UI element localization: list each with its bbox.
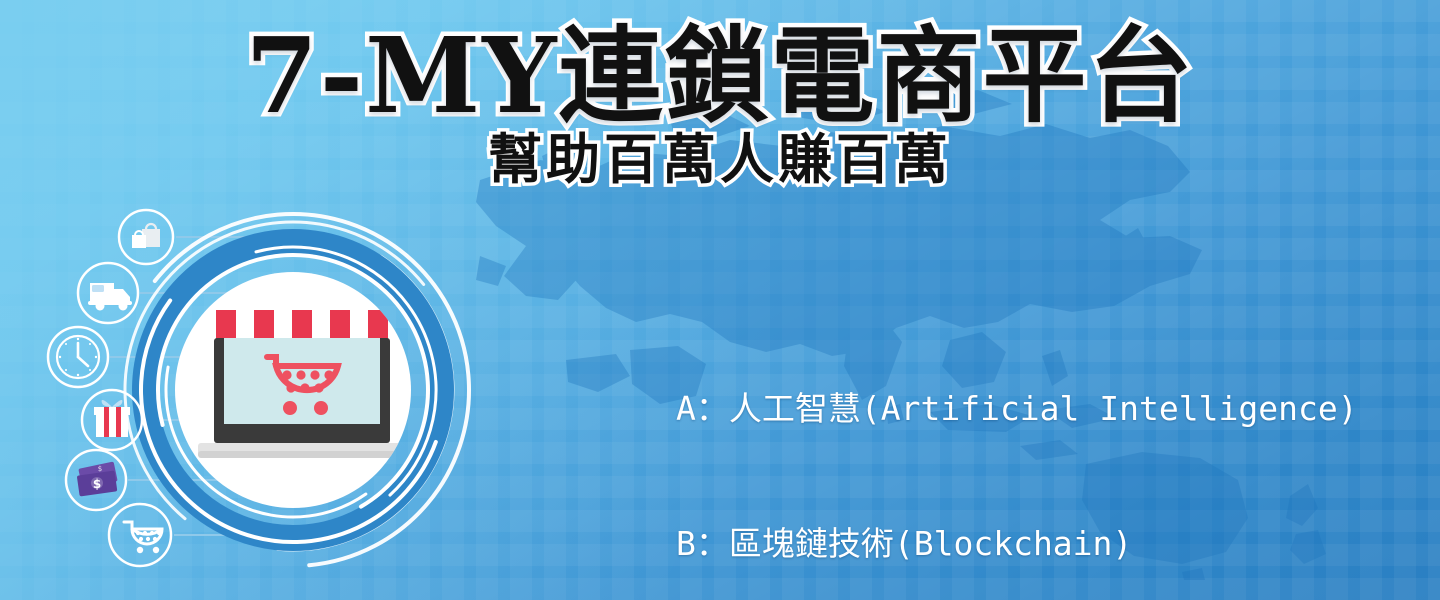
clock-icon-badge [48,327,108,387]
feature-line-a: A：人工智慧(Artificial Intelligence) [676,386,1416,431]
promo-banner: 7-MY連鎖電商平台 幫助百萬人賺百萬 [0,0,1440,600]
feature-list: A：人工智慧(Artificial Intelligence) B：區塊鏈技術(… [676,296,1416,600]
online-store-laptop-icon [198,310,406,458]
clock-icon [57,336,99,378]
svg-text:$: $ [98,465,102,473]
feature-line-b: B：區塊鏈技術(Blockchain) [676,521,1416,566]
shopping-bags-icon [132,224,160,248]
shopping-cart-icon [124,522,162,553]
cash-money-icon: $ $ [77,461,118,496]
cash-money-icon-badge: $ $ [66,450,126,510]
shopping-bags-icon-badge [119,210,173,264]
laptop-screen [224,338,380,424]
svg-text:$: $ [93,477,101,491]
gift-box-icon-badge [82,390,142,450]
delivery-truck-icon-badge [78,263,138,323]
delivery-truck-icon [88,283,132,311]
shopping-cart-icon-badge [109,504,171,566]
ecommerce-illustration: $ $ [28,205,498,585]
